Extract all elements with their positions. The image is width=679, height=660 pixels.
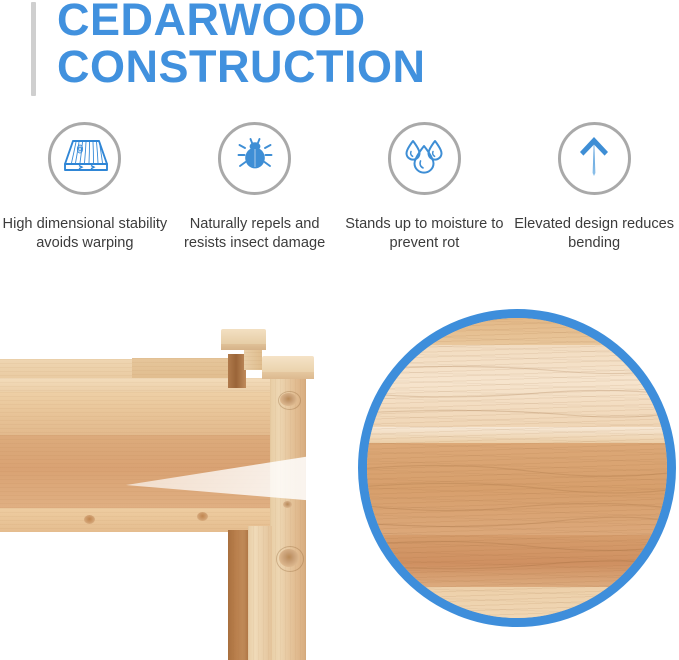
front-post-cap: [262, 356, 314, 372]
title-line-1: CEDARWOOD: [57, 0, 677, 43]
icon-ring-elevated: [558, 122, 631, 195]
wood-grain-closeup: [358, 309, 676, 627]
icon-ring-moisture: [388, 122, 461, 195]
bed-bottom-rail: [0, 508, 270, 532]
feature-caption-stability: High dimensional stability avoids warpin…: [2, 215, 167, 252]
wood-knot: [283, 501, 292, 508]
header: CEDARWOOD CONSTRUCTION: [0, 0, 679, 110]
product-photo: [0, 318, 340, 660]
front-leg: [248, 526, 272, 660]
title-accent-bar: [31, 2, 36, 96]
rear-post-cap: [221, 329, 266, 344]
wood-grain-magnifier: [358, 309, 676, 627]
rear-leg: [228, 530, 250, 660]
icon-ring-stability: [48, 122, 121, 195]
beetle-bug-icon: [232, 133, 278, 184]
screw-head: [197, 512, 208, 521]
up-arrow-icon: [572, 133, 616, 184]
feature-caption-moisture: Stands up to moisture to prevent rot: [342, 215, 507, 252]
feature-caption-elevated: Elevated design reduces bending: [512, 215, 677, 252]
feature-list: High dimensional stability avoids warpin…: [0, 122, 679, 294]
feature-item-stability: High dimensional stability avoids warpin…: [0, 122, 170, 252]
feature-caption-insect: Naturally repels and resists insect dama…: [172, 215, 337, 252]
feature-item-elevated: Elevated design reduces bending: [509, 122, 679, 252]
water-droplets-icon: [400, 134, 448, 183]
bed-front-board-upper: [0, 392, 270, 437]
rear-post-neck: [244, 348, 262, 370]
icon-ring-insect: [218, 122, 291, 195]
screw-head: [84, 515, 95, 524]
raised-garden-bed-image: [0, 318, 340, 660]
page-title: CEDARWOOD CONSTRUCTION: [57, 0, 677, 90]
feature-item-moisture: Stands up to moisture to prevent rot: [340, 122, 510, 252]
title-line-2: CONSTRUCTION: [57, 43, 677, 90]
feature-item-insect: Naturally repels and resists insect dama…: [170, 122, 340, 252]
bed-front-board-lower: [0, 435, 270, 510]
front-corner-post: [270, 377, 306, 660]
wood-plank-icon: [59, 136, 111, 181]
